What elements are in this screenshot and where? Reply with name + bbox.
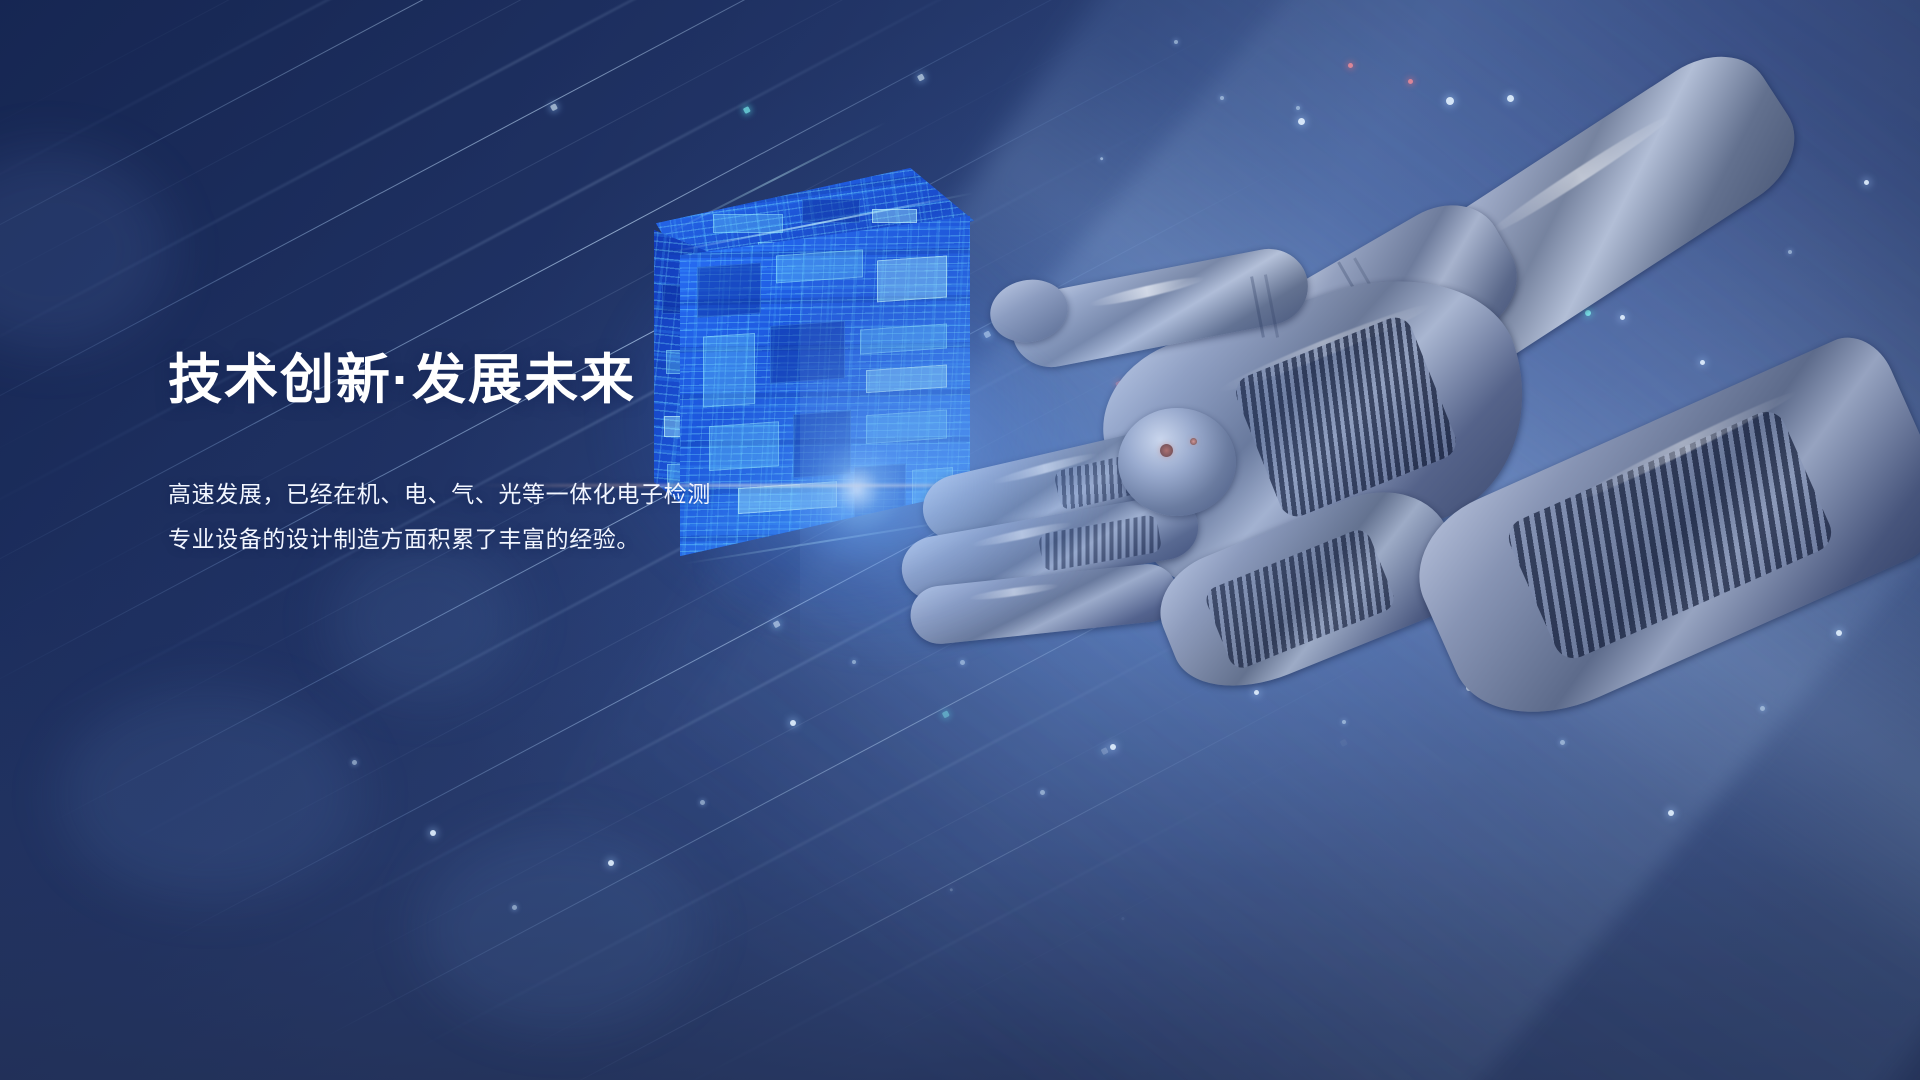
hero-description: 高速发展，已经在机、电、气、光等一体化电子检测 专业设备的设计制造方面积累了丰富… xyxy=(168,472,928,562)
hero-banner: 技术创新·发展未来 高速发展，已经在机、电、气、光等一体化电子检测 专业设备的设… xyxy=(0,0,1920,1080)
robot-indicator-light xyxy=(1160,444,1173,457)
page-title: 技术创新·发展未来 xyxy=(168,350,928,410)
hero-description-line-1: 高速发展，已经在机、电、气、光等一体化电子检测 xyxy=(168,472,928,517)
robot-knuckle-hub xyxy=(1118,408,1236,516)
robotic-hand xyxy=(860,120,1920,760)
hero-description-line-2: 专业设备的设计制造方面积累了丰富的经验。 xyxy=(168,517,928,562)
robot-indicator-light xyxy=(1190,438,1197,445)
hero-copy: 技术创新·发展未来 高速发展，已经在机、电、气、光等一体化电子检测 专业设备的设… xyxy=(168,350,928,562)
